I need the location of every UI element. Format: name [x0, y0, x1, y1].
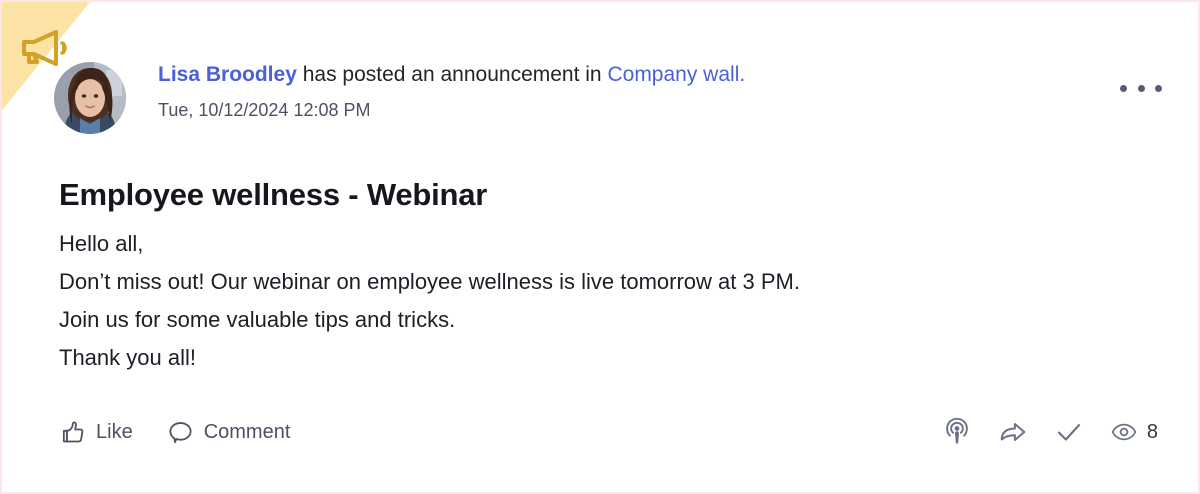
post-body: Employee wellness - Webinar Hello all, D… [59, 174, 1158, 377]
comment-label: Comment [204, 421, 291, 444]
more-dot [1155, 85, 1162, 92]
share-arrow-icon [998, 417, 1028, 447]
post-meta: Lisa Broodley has posted an announcement… [158, 60, 745, 122]
byline: Lisa Broodley has posted an announcement… [158, 60, 745, 90]
post-line: Join us for some valuable tips and trick… [59, 301, 1158, 339]
view-count-value: 8 [1147, 421, 1158, 444]
mark-read-button[interactable] [1054, 417, 1084, 447]
primary-actions: Like Comment [59, 419, 290, 446]
post-timestamp: Tue, 10/12/2024 12:08 PM [158, 98, 745, 122]
post-line: Thank you all! [59, 339, 1158, 377]
comment-bubble-icon [167, 419, 194, 446]
post-header: Lisa Broodley has posted an announcement… [54, 60, 1162, 144]
byline-action-text: has posted an announcement in [303, 63, 602, 86]
like-button[interactable]: Like [59, 419, 133, 446]
post-action-bar: Like Comment [59, 408, 1158, 456]
broadcast-icon [942, 417, 972, 447]
post-text: Hello all, Don’t miss out! Our webinar o… [59, 225, 1158, 377]
more-dot [1120, 85, 1127, 92]
checkmark-icon [1054, 417, 1084, 447]
comment-button[interactable]: Comment [167, 419, 291, 446]
announcement-post-card: Lisa Broodley has posted an announcement… [0, 0, 1200, 494]
more-dot [1138, 85, 1145, 92]
broadcast-button[interactable] [942, 417, 972, 447]
share-button[interactable] [998, 417, 1028, 447]
post-line: Don’t miss out! Our webinar on employee … [59, 263, 1158, 301]
view-count-indicator[interactable]: 8 [1110, 418, 1158, 446]
post-line: Hello all, [59, 225, 1158, 263]
author-name[interactable]: Lisa Broodley [158, 63, 297, 86]
thumbs-up-icon [59, 419, 86, 446]
byline-period: . [739, 63, 745, 86]
more-options-button[interactable] [1120, 76, 1162, 100]
channel-link[interactable]: Company wall [607, 63, 739, 86]
eye-icon [1110, 418, 1138, 446]
secondary-actions: 8 [942, 417, 1158, 447]
like-label: Like [96, 421, 133, 444]
post-title: Employee wellness - Webinar [59, 174, 1158, 216]
avatar[interactable] [54, 62, 126, 134]
